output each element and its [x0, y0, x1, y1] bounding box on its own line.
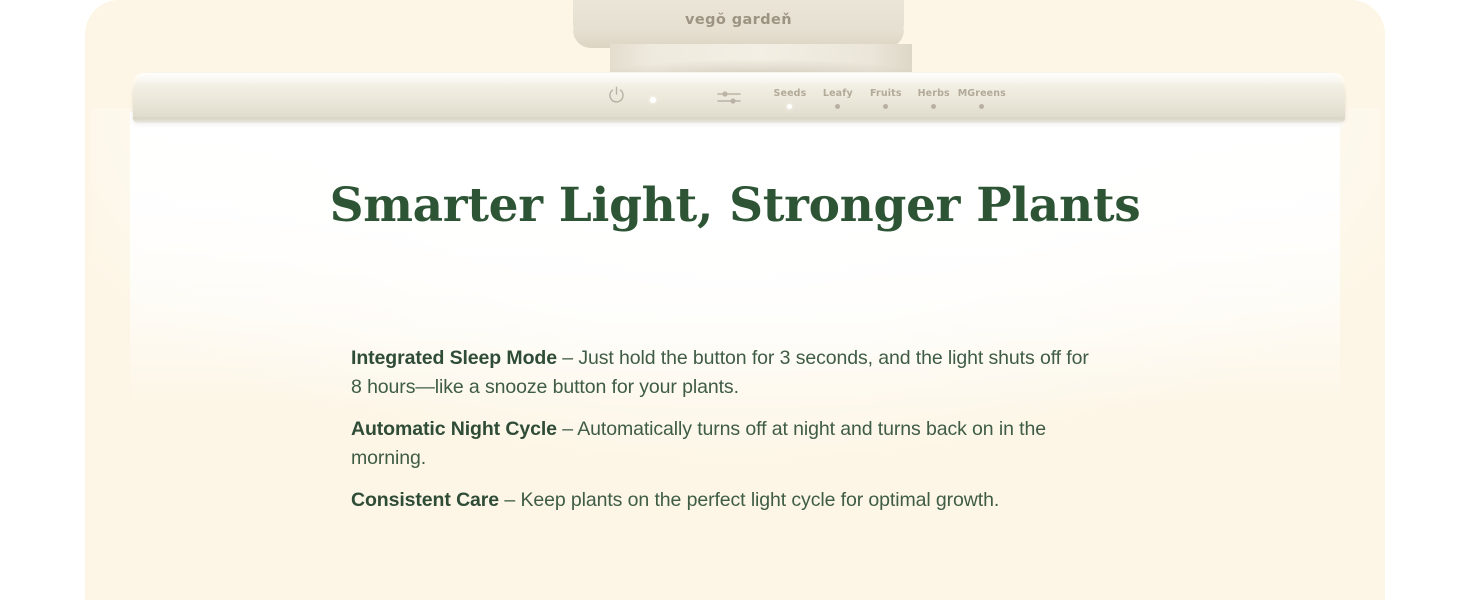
sliders-icon[interactable] [716, 88, 742, 106]
feature-dash: – [557, 347, 578, 369]
feature-item-sleep-mode: Integrated Sleep Mode – Just hold the bu… [351, 344, 1096, 402]
mode-button-seeds[interactable]: Seeds [766, 88, 814, 109]
power-status-led [650, 97, 656, 103]
feature-item-night-cycle: Automatic Night Cycle – Automatically tu… [351, 415, 1096, 473]
feature-text: Keep plants on the perfect light cycle f… [520, 489, 999, 511]
lamp-housing-face [573, 30, 904, 48]
mode-indicator-dot [931, 104, 936, 109]
brand-logo-text: vegŏ gardeň [573, 12, 904, 28]
mode-indicator-dot [979, 104, 984, 109]
feature-title: Consistent Care [351, 489, 499, 511]
feature-list: Integrated Sleep Mode – Just hold the bu… [351, 344, 1096, 515]
mode-indicator-dot [883, 104, 888, 109]
feature-title: Integrated Sleep Mode [351, 347, 557, 369]
mode-selector: Seeds Leafy Fruits Herbs MGreens [766, 88, 1006, 118]
promo-card: vegŏ gardeň [85, 0, 1385, 600]
page-title: Smarter Light, Stronger Plants [85, 178, 1385, 233]
mode-indicator-dot [787, 104, 792, 109]
mode-label: Fruits [862, 88, 910, 99]
feature-item-consistent-care: Consistent Care – Keep plants on the per… [351, 486, 1096, 515]
feature-dash: – [499, 489, 520, 511]
mode-label: Herbs [910, 88, 958, 99]
mode-button-mgreens[interactable]: MGreens [958, 88, 1006, 109]
mode-button-fruits[interactable]: Fruits [862, 88, 910, 109]
mode-button-leafy[interactable]: Leafy [814, 88, 862, 109]
mode-label: Seeds [766, 88, 814, 99]
feature-dash: – [557, 418, 577, 440]
promo-banner: vegŏ gardeň [0, 0, 1464, 600]
mode-label: MGreens [958, 88, 1006, 99]
feature-title: Automatic Night Cycle [351, 418, 557, 440]
lamp-top-housing [573, 0, 904, 46]
mode-indicator-dot [835, 104, 840, 109]
mode-button-herbs[interactable]: Herbs [910, 88, 958, 109]
power-icon[interactable] [606, 85, 627, 106]
mode-label: Leafy [814, 88, 862, 99]
lamp-control-panel: Seeds Leafy Fruits Herbs MGreens [133, 72, 1345, 123]
